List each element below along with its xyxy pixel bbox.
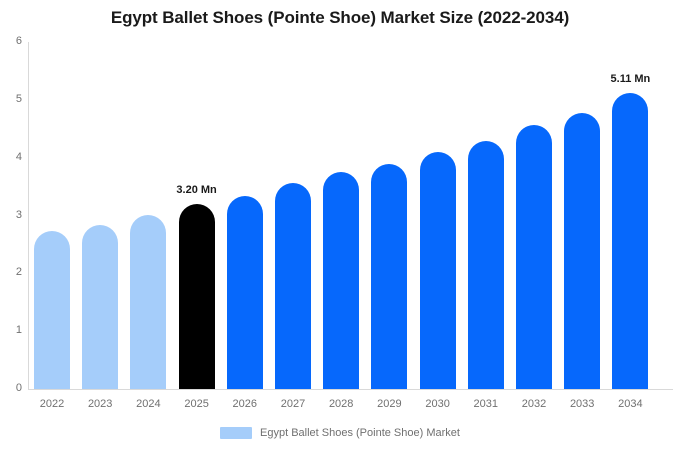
x-axis-tick-2026: 2026 [221,398,269,410]
x-axis-tick-2034: 2034 [606,398,654,410]
bar-2030[interactable] [420,152,456,389]
bar-2026[interactable] [227,196,263,389]
bar-2032[interactable] [516,125,552,389]
bars-layer [0,0,680,389]
bar-2028[interactable] [323,172,359,389]
x-axis-tick-2032: 2032 [510,398,558,410]
bar-2029[interactable] [371,164,407,389]
bar-value-label-2025: 3.20 Mn [157,184,237,196]
x-axis-line [28,389,673,390]
bar-2034[interactable] [612,93,648,389]
x-axis-tick-2027: 2027 [269,398,317,410]
bar-2033[interactable] [564,113,600,389]
x-axis-tick-2031: 2031 [462,398,510,410]
bar-chart: Egypt Ballet Shoes (Pointe Shoe) Market … [0,0,680,450]
x-axis-tick-2022: 2022 [28,398,76,410]
x-axis-tick-2033: 2033 [558,398,606,410]
bar-2027[interactable] [275,183,311,389]
bar-2022[interactable] [34,231,70,389]
x-axis-tick-2028: 2028 [317,398,365,410]
x-axis-tick-2029: 2029 [365,398,413,410]
x-axis-tick-2024: 2024 [124,398,172,410]
bar-2024[interactable] [130,215,166,389]
chart-legend: Egypt Ballet Shoes (Pointe Shoe) Market [0,427,680,439]
bar-2025[interactable] [179,204,215,389]
x-axis-tick-2030: 2030 [414,398,462,410]
bar-2031[interactable] [468,141,504,389]
legend-swatch-icon [220,427,252,439]
bar-value-label-2034: 5.11 Mn [590,73,670,85]
bar-2023[interactable] [82,225,118,389]
legend-label: Egypt Ballet Shoes (Pointe Shoe) Market [260,427,460,439]
x-axis-tick-2023: 2023 [76,398,124,410]
x-axis-tick-2025: 2025 [173,398,221,410]
